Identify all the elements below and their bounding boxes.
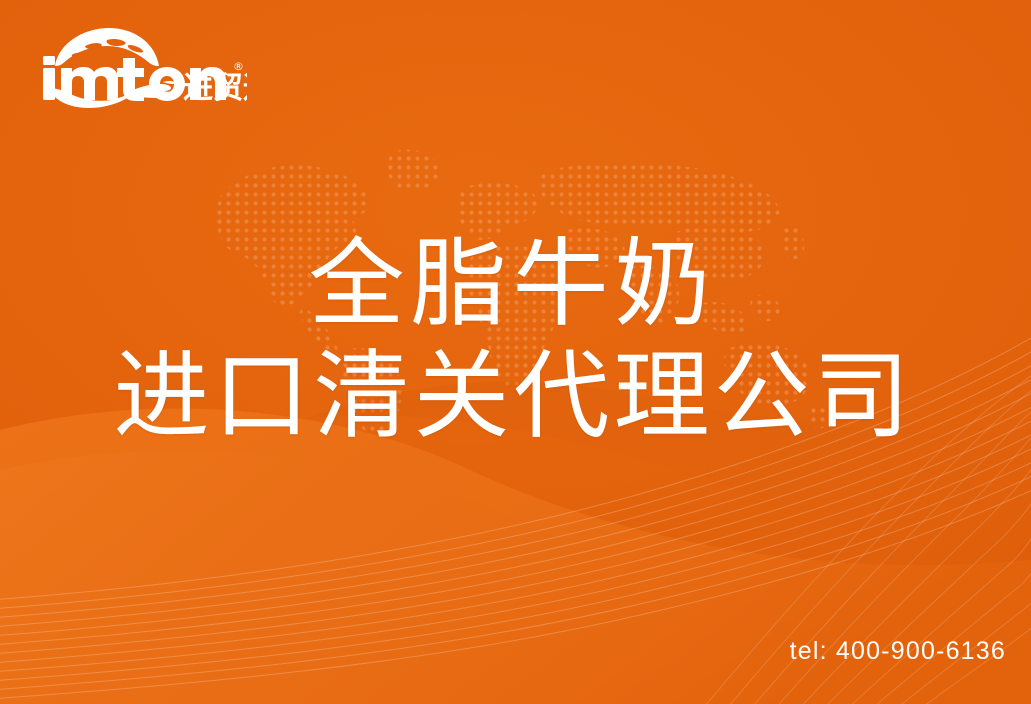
headline-line-1: 全脂牛奶 <box>0 228 1031 340</box>
promo-banner: 进贸通 ® 全脂牛奶 进口清关代理公司 tel: 400-900-6136 <box>0 0 1031 704</box>
contact-phone[interactable]: tel: 400-900-6136 <box>790 636 1006 666</box>
globe-arc-icon <box>55 28 159 66</box>
trademark-symbol: ® <box>233 60 244 73</box>
headline-block: 全脂牛奶 进口清关代理公司 <box>0 228 1031 452</box>
company-logo[interactable]: 进贸通 ® <box>37 26 247 108</box>
headline-line-2: 进口清关代理公司 <box>0 340 1031 452</box>
logo-chinese-name: 进贸通 <box>183 71 247 106</box>
